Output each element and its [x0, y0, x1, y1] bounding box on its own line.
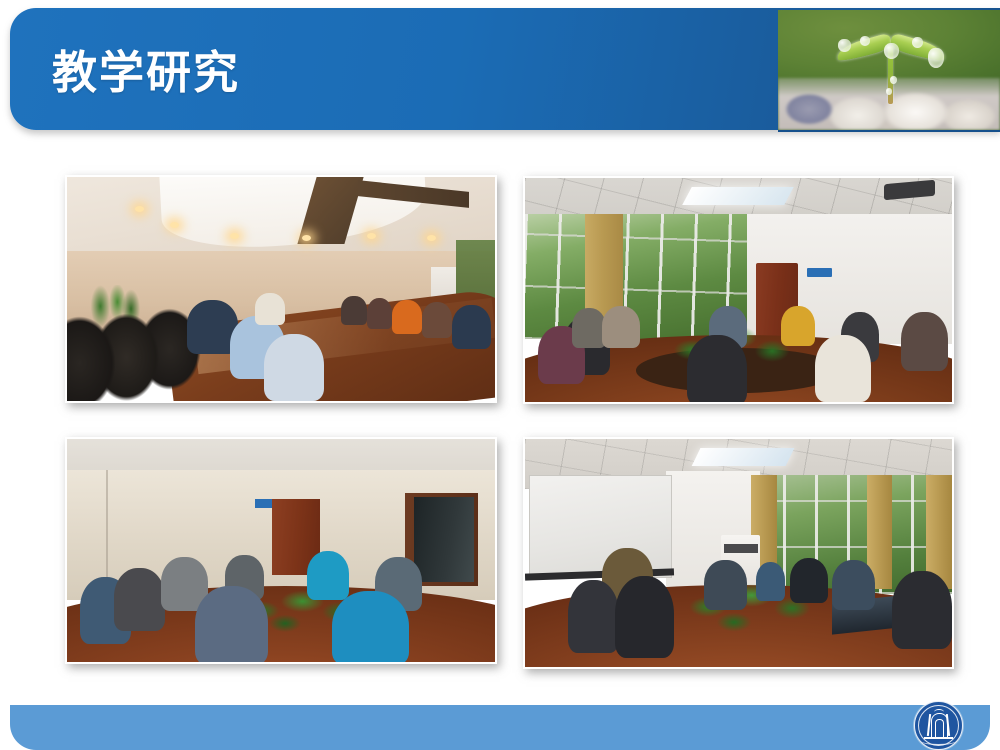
- ceiling-light: [230, 233, 239, 239]
- logo-gate-inner: [935, 719, 944, 738]
- ceiling-light: [427, 235, 436, 241]
- door-sign: [807, 268, 833, 277]
- attendee: [264, 334, 324, 401]
- footer-bar: [10, 705, 990, 750]
- attendee: [255, 293, 285, 324]
- attendee: [367, 298, 393, 329]
- gallery-photo-top-left: [65, 175, 497, 403]
- page-title: 教学研究: [52, 44, 240, 102]
- attendee: [341, 296, 367, 325]
- attendee: [602, 306, 640, 349]
- attendee: [195, 586, 268, 662]
- water-droplet: [928, 48, 944, 68]
- university-logo-icon: [914, 701, 963, 750]
- ceiling-light: [367, 233, 376, 239]
- attendee: [392, 300, 422, 334]
- gallery-photo-top-right: [523, 176, 954, 404]
- projection-screen: [529, 475, 672, 577]
- gallery-photo-bottom-left: [65, 437, 497, 664]
- photo-content: [525, 439, 952, 667]
- photo-content: [67, 439, 495, 662]
- open-doorway: [414, 497, 474, 582]
- attendee: [687, 335, 747, 402]
- attendee: [568, 580, 619, 653]
- photo-content: [67, 177, 495, 401]
- attendee: [815, 335, 871, 402]
- water-droplet: [838, 39, 851, 52]
- gallery-photo-bottom-right: [523, 437, 954, 669]
- attendee: [114, 568, 165, 630]
- wall-corner: [106, 470, 108, 586]
- attendee: [704, 560, 747, 610]
- attendee: [892, 571, 952, 649]
- water-droplet: [912, 37, 923, 48]
- attendee: [781, 306, 815, 346]
- water-droplet: [890, 76, 897, 84]
- water-droplet: [860, 36, 870, 46]
- ceiling-light: [170, 222, 179, 228]
- attendee: [452, 305, 491, 350]
- photo-content: [525, 178, 952, 402]
- ceiling-light-panel: [682, 187, 794, 205]
- ceiling-light-panel: [691, 448, 794, 466]
- attendee: [832, 560, 875, 610]
- attendee: [307, 551, 350, 600]
- air-conditioner-vent: [724, 544, 758, 553]
- attendee: [790, 558, 828, 604]
- attendee: [901, 312, 948, 370]
- water-droplet: [884, 43, 899, 59]
- header-decor-sprout-image: [778, 10, 1000, 132]
- attendee: [615, 576, 675, 658]
- presentation-slide: 教学研究: [0, 0, 1000, 750]
- logo-arc-text: [921, 737, 956, 745]
- attendee: [756, 562, 786, 601]
- water-droplet: [886, 88, 892, 95]
- attendee: [422, 302, 452, 338]
- attendee: [332, 591, 409, 662]
